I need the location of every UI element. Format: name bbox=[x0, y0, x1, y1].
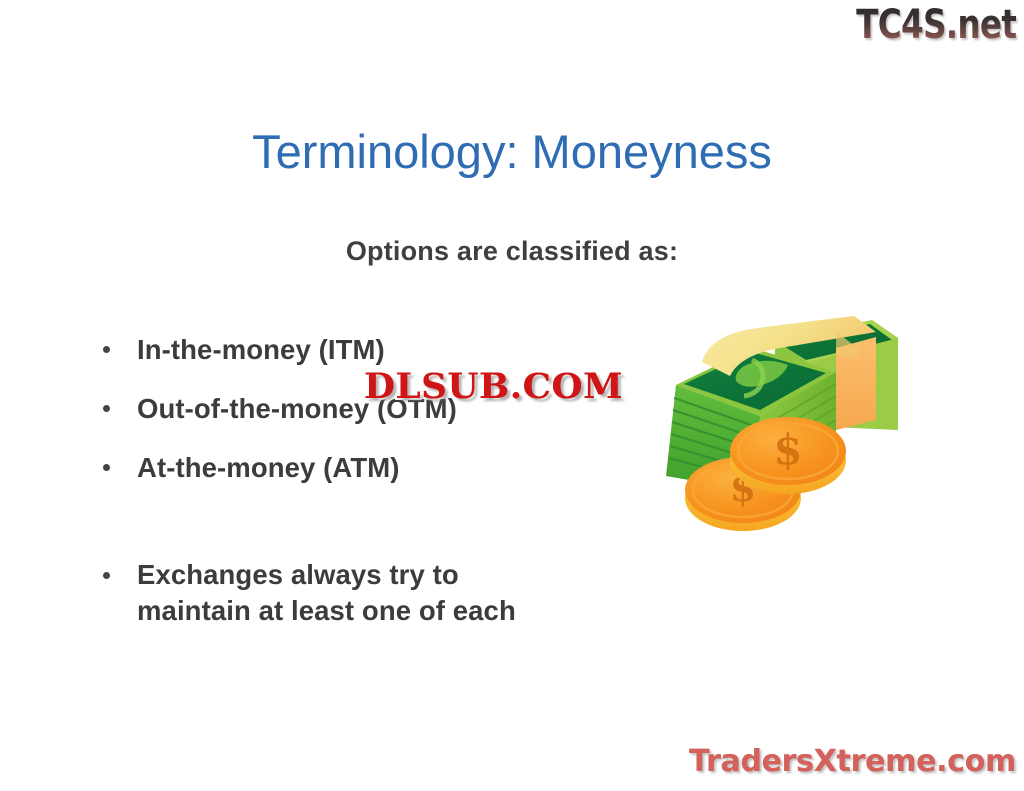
dlsub-watermark-fill: DLSUB.COM bbox=[364, 366, 623, 407]
list-item-label: In-the-money (ITM) bbox=[137, 334, 385, 365]
svg-text:$: $ bbox=[773, 425, 802, 474]
bullet-dot-icon bbox=[103, 572, 110, 579]
tc4s-watermark: TC4S.net bbox=[856, 2, 1016, 48]
list-item: At-the-money (ATM) bbox=[96, 450, 656, 486]
list-item-label-line1: Exchanges always try to bbox=[137, 557, 656, 593]
list-item-label-line2: maintain at least one of each bbox=[137, 593, 656, 629]
subtitle: Options are classified as: bbox=[0, 236, 1024, 267]
money-stacks-and-coins-icon: $ $ bbox=[640, 280, 940, 540]
bullet-dot-icon bbox=[103, 346, 110, 353]
bullet-dot-icon bbox=[103, 405, 110, 412]
list-item: Exchanges always try to maintain at leas… bbox=[96, 557, 656, 629]
tradersxtreme-watermark-fill: TradersXtreme.com bbox=[689, 744, 1016, 779]
list-item: In-the-money (ITM) bbox=[96, 332, 656, 368]
tradersxtreme-watermark: TradersXtreme.com TradersXtreme.com bbox=[689, 744, 1016, 779]
page-title: Terminology: Moneyness bbox=[0, 126, 1024, 178]
slide-canvas: TC4S.net Terminology: Moneyness Options … bbox=[0, 0, 1024, 791]
bullet-dot-icon bbox=[103, 464, 110, 471]
list-item-label: At-the-money (ATM) bbox=[137, 452, 400, 483]
dlsub-watermark: DLSUB.COM DLSUB.COM bbox=[364, 366, 623, 407]
